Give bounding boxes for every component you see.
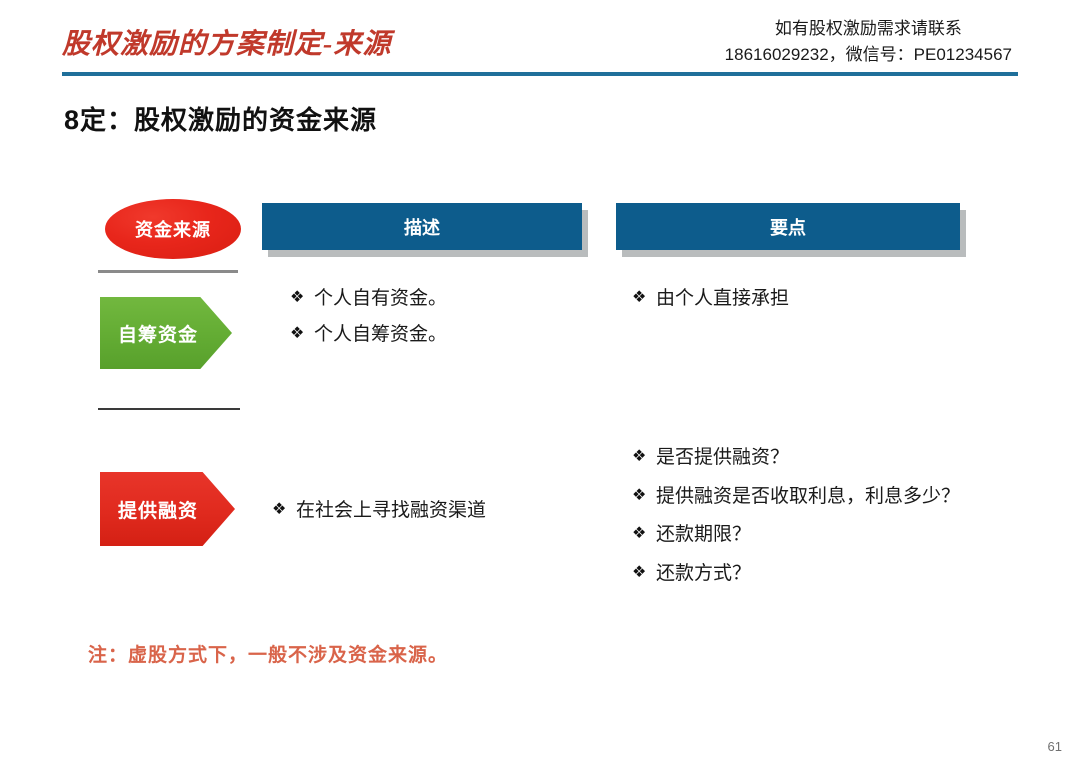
list-item-text: 提供融资是否收取利息，利息多少？ xyxy=(656,484,960,510)
list-item-text: 还款期限？ xyxy=(656,522,960,548)
column-header-points: 要点 xyxy=(616,203,960,250)
page-title: 8定：股权激励的资金来源 xyxy=(64,100,377,137)
slide-title: 股权激励的方案制定-来源 xyxy=(62,22,391,62)
contact-details: 18616029232，微信号：PE01234567 xyxy=(725,42,1012,68)
list-item: ❖ 是否提供融资？ xyxy=(632,445,960,471)
diamond-bullet-icon: ❖ xyxy=(290,322,314,346)
section-heading-text: 定：股权激励的资金来源 xyxy=(80,106,377,135)
financing-description-list: ❖ 在社会上寻找融资渠道 xyxy=(272,498,486,524)
column-header-points-label: 要点 xyxy=(770,214,806,240)
financing-arrow-label: 提供融资 xyxy=(118,496,198,523)
list-item-text: 还款方式？ xyxy=(656,561,960,587)
column-header-description: 描述 xyxy=(262,203,582,250)
diamond-bullet-icon: ❖ xyxy=(290,286,314,310)
footnote: 注：虚股方式下，一般不涉及资金来源。 xyxy=(88,640,448,667)
list-item-text: 个人自筹资金。 xyxy=(314,322,447,348)
list-item: ❖ 还款方式？ xyxy=(632,561,960,587)
list-item: ❖ 提供融资是否收取利息，利息多少？ xyxy=(632,484,960,510)
self-funding-points-list: ❖ 由个人直接承担 xyxy=(632,286,789,312)
list-item: ❖ 个人自筹资金。 xyxy=(290,322,447,348)
self-funding-arrow: 自筹资金 xyxy=(100,297,232,369)
row-separator-middle xyxy=(98,408,240,410)
diamond-bullet-icon: ❖ xyxy=(632,522,656,546)
list-item: ❖ 个人自有资金。 xyxy=(290,286,447,312)
diamond-bullet-icon: ❖ xyxy=(632,286,656,310)
page-number: 61 xyxy=(1048,739,1062,754)
list-item: ❖ 在社会上寻找融资渠道 xyxy=(272,498,486,524)
list-item: ❖ 还款期限？ xyxy=(632,522,960,548)
slide-canvas: 股权激励的方案制定-来源 如有股权激励需求请联系 18616029232，微信号… xyxy=(0,0,1080,766)
row-separator-top xyxy=(98,270,238,273)
diamond-bullet-icon: ❖ xyxy=(632,484,656,508)
diamond-bullet-icon: ❖ xyxy=(272,498,296,522)
header-divider xyxy=(62,72,1018,76)
list-item-text: 是否提供融资？ xyxy=(656,445,960,471)
diamond-bullet-icon: ❖ xyxy=(632,561,656,585)
contact-block: 如有股权激励需求请联系 18616029232，微信号：PE01234567 xyxy=(725,16,1012,67)
diamond-bullet-icon: ❖ xyxy=(632,445,656,469)
section-number: 8 xyxy=(64,105,80,135)
self-funding-description-list: ❖ 个人自有资金。 ❖ 个人自筹资金。 xyxy=(290,286,447,347)
contact-prompt: 如有股权激励需求请联系 xyxy=(725,16,1012,42)
list-item-text: 在社会上寻找融资渠道 xyxy=(296,498,486,524)
list-item-text: 由个人直接承担 xyxy=(656,286,789,312)
funding-source-label: 资金来源 xyxy=(135,216,211,242)
self-funding-arrow-label: 自筹资金 xyxy=(118,320,198,347)
list-item: ❖ 由个人直接承担 xyxy=(632,286,789,312)
funding-source-oval: 资金来源 xyxy=(105,199,241,259)
financing-points-list: ❖ 是否提供融资？ ❖ 提供融资是否收取利息，利息多少？ ❖ 还款期限？ ❖ 还… xyxy=(632,445,960,600)
column-header-description-label: 描述 xyxy=(404,214,440,240)
financing-arrow: 提供融资 xyxy=(100,472,235,546)
list-item-text: 个人自有资金。 xyxy=(314,286,447,312)
